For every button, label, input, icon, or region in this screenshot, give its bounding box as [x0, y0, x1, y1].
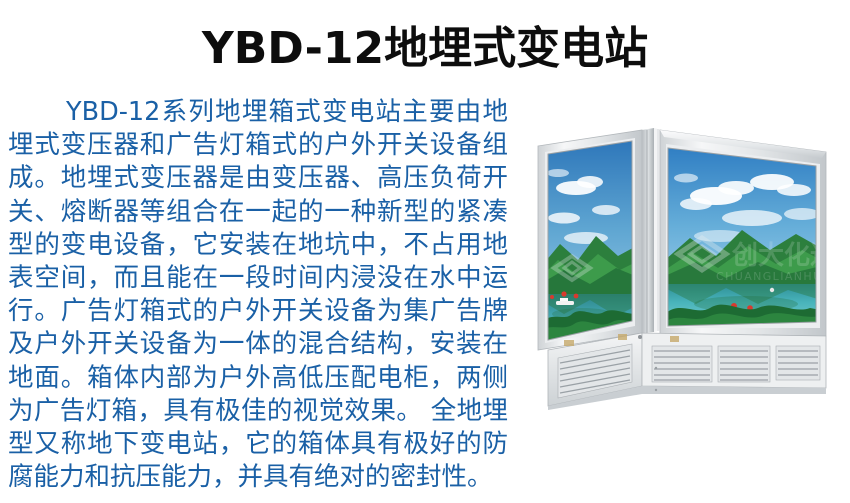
light-box-right: 创大化达 CHUANGLIANHUAN [660, 130, 841, 336]
product-photo: 创大化达 CHUANGLIANHUAN [520, 118, 850, 448]
louver-grill-front-3 [776, 346, 820, 380]
light-box-left-image [538, 133, 642, 350]
louver-grill-front-2 [718, 346, 770, 382]
product-description-paragraph: YBD-12系列地埋箱式变电站主要由地埋式变压器和广告灯箱式的户外开关设备组成。… [8, 96, 508, 494]
light-box-left [538, 130, 642, 350]
product-spec-page: YBD-12地埋式变电站 YBD-12系列地埋箱式变电站主要由地埋式变压器和广告… [0, 0, 850, 503]
product-photo-svg: 创大化达 CHUANGLIANHUAN [520, 118, 850, 448]
page-title: YBD-12地埋式变电站 [0, 24, 850, 74]
light-box-right-image: 创大化达 CHUANGLIANHUAN [664, 143, 841, 332]
louver-grill-front-1 [652, 346, 712, 382]
corner-post [642, 128, 662, 333]
